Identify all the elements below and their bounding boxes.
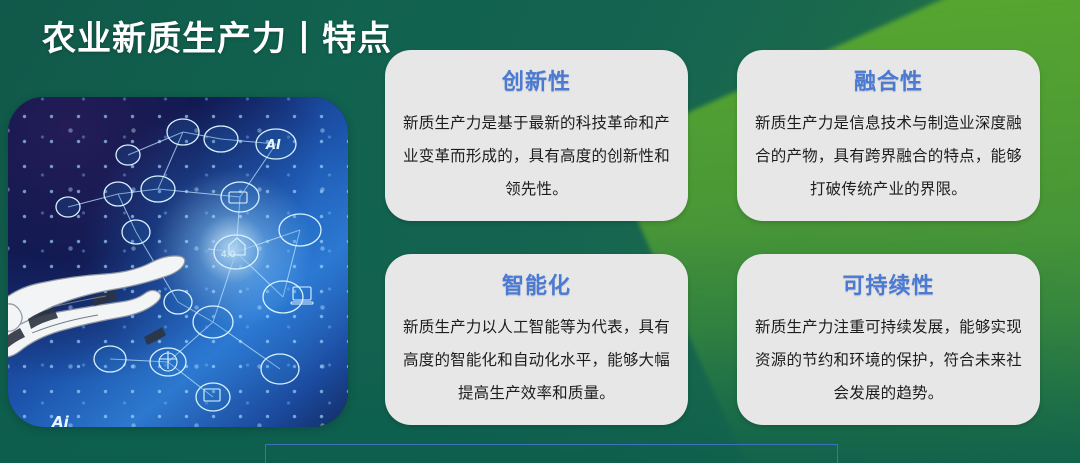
card-title: 可持续性 [842,268,934,300]
card-title: 智能化 [502,268,571,300]
card-title: 创新性 [502,64,571,96]
page-title: 农业新质生产力丨特点 [42,11,392,60]
robot-hand-icon [8,215,242,365]
slide-canvas: 农业新质生产力丨特点 [0,0,1080,463]
card-body: 新质生产力是信息技术与制造业深度融合的产物，具有跨界融合的特点，能够打破传统产业… [755,107,1022,206]
technology-photo[interactable]: AI Ai 4.0 [8,97,348,427]
feature-card-sustainability[interactable]: 可持续性 新质生产力注重可持续发展，能够实现资源的节约和环境的保护，符合未来社会… [737,254,1040,425]
feature-card-intelligence[interactable]: 智能化 新质生产力以人工智能等为代表，具有高度的智能化和自动化水平，能够大幅提高… [385,254,688,425]
card-title: 融合性 [854,64,923,96]
card-body: 新质生产力注重可持续发展，能够实现资源的节约和环境的保护，符合未来社会发展的趋势… [755,311,1022,410]
card-body: 新质生产力以人工智能等为代表，具有高度的智能化和自动化水平，能够大幅提高生产效率… [403,311,670,410]
empty-text-placeholder[interactable] [265,444,838,463]
feature-card-integration[interactable]: 融合性 新质生产力是信息技术与制造业深度融合的产物，具有跨界融合的特点，能够打破… [737,50,1040,221]
feature-card-innovation[interactable]: 创新性 新质生产力是基于最新的科技革命和产业变革而形成的，具有高度的创新性和领先… [385,50,688,221]
feature-card-grid: 创新性 新质生产力是基于最新的科技革命和产业变革而形成的，具有高度的创新性和领先… [385,50,1040,425]
svg-text:Ai: Ai [51,413,70,427]
svg-text:AI: AI [265,138,281,153]
card-body: 新质生产力是基于最新的科技革命和产业变革而形成的，具有高度的创新性和领先性。 [403,107,670,206]
